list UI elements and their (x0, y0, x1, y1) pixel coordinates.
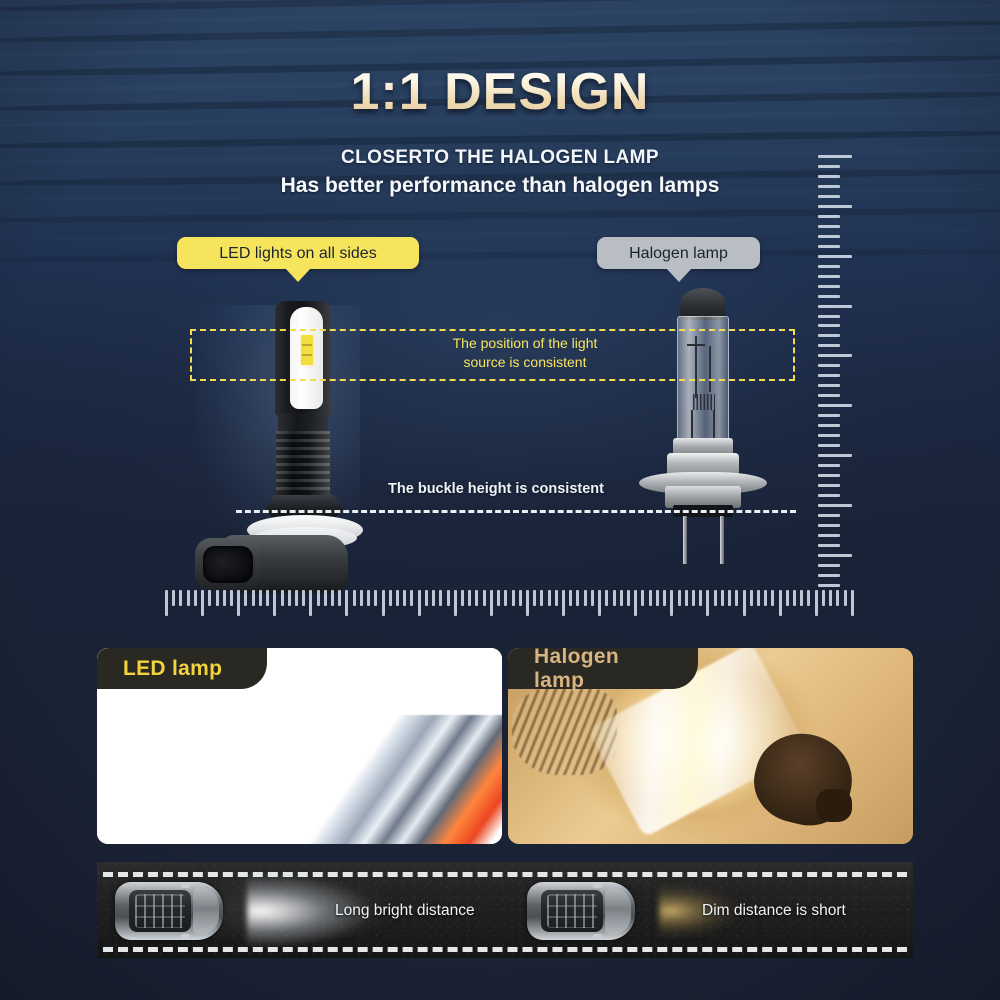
ruler-tick-minor (678, 590, 681, 606)
ruler-tick-minor (818, 584, 840, 587)
ruler-tick-minor (374, 590, 377, 606)
ruler-tick-minor (818, 434, 840, 437)
ruler-tick-minor (699, 590, 702, 606)
ruler-tick-minor (818, 185, 840, 188)
ruler-tick-major (818, 454, 852, 457)
ruler-tick-minor (259, 590, 262, 606)
callout-led-pointer (285, 268, 311, 282)
led-lamp-panel-tab: LED lamp (97, 648, 267, 689)
ruler-tick-minor (288, 590, 291, 606)
ruler-tick-minor (822, 590, 825, 606)
light-source-annotation: The position of the light source is cons… (395, 334, 655, 372)
ruler-tick-major (818, 404, 852, 407)
ruler-tick-minor (818, 364, 840, 367)
ruler-tick-minor (818, 374, 840, 377)
ruler-tick-minor (818, 175, 840, 178)
halogen-lamp-photo-stem (816, 789, 852, 822)
ruler-tick-minor (331, 590, 334, 606)
ruler-tick-major (706, 590, 709, 616)
ruler-tick-minor (389, 590, 392, 606)
ruler-tick-minor (692, 590, 695, 606)
ruler-tick-major (670, 590, 673, 616)
ruler-tick-minor (468, 590, 471, 606)
ruler-tick-minor (818, 534, 840, 537)
ruler-tick-major (309, 590, 312, 616)
halogen-bulb-pin (683, 516, 687, 564)
ruler-tick-minor (818, 514, 840, 517)
halogen-bulb-filament-coil (693, 394, 715, 410)
buckle-height-annotation: The buckle height is consistent (386, 481, 606, 497)
ruler-tick-minor (818, 444, 840, 447)
callout-led-lights: LED lights on all sides (177, 237, 419, 269)
ruler-tick-minor (281, 590, 284, 606)
ruler-tick-minor (818, 474, 840, 477)
ruler-tick-major (818, 354, 852, 357)
halogen-lamp-photo-panel: Halogen lamp (508, 648, 913, 844)
ruler-tick-minor (656, 590, 659, 606)
ruler-tick-minor (216, 590, 219, 606)
ruler-tick-minor (483, 590, 486, 606)
ruler-tick-minor (591, 590, 594, 606)
ruler-tick-minor (818, 265, 840, 268)
led-bulb-neck (278, 413, 328, 433)
callout-led-label: LED lights on all sides (219, 245, 376, 262)
ruler-tick-minor (818, 295, 840, 298)
ruler-tick-major (237, 590, 240, 616)
ruler-tick-minor (800, 590, 803, 606)
ruler-tick-minor (818, 334, 840, 337)
ruler-tick-minor (425, 590, 428, 606)
ruler-tick-minor (230, 590, 233, 606)
ruler-tick-major (490, 590, 493, 616)
ruler-tick-minor (793, 590, 796, 606)
ruler-tick-minor (410, 590, 413, 606)
ruler-tick-minor (187, 590, 190, 606)
ruler-tick-minor (818, 574, 840, 577)
car-interior (135, 894, 185, 928)
ruler-tick-minor (728, 590, 731, 606)
buckle-height-dashed-line (236, 510, 796, 513)
ruler-tick-major (273, 590, 276, 616)
ruler-tick-minor (461, 590, 464, 606)
ruler-tick-minor (353, 590, 356, 606)
ruler-tick-minor (721, 590, 724, 606)
ruler-tick-minor (818, 394, 840, 397)
halogen-bulb-pin (720, 516, 724, 564)
ruler-tick-minor (302, 590, 305, 606)
ruler-tick-minor (605, 590, 608, 606)
ruler-tick-major (454, 590, 457, 616)
ruler-tick-minor (818, 195, 840, 198)
infographic-root: 1:1 DESIGN CLOSERTO THE HALOGEN LAMP Has… (0, 0, 1000, 1000)
ruler-tick-minor (818, 344, 840, 347)
ruler-tick-minor (818, 544, 840, 547)
ruler-tick-minor (627, 590, 630, 606)
ruler-tick-minor (475, 590, 478, 606)
ruler-tick-major (598, 590, 601, 616)
ruler-tick-minor (818, 215, 840, 218)
ruler-tick-minor (447, 590, 450, 606)
ruler-tick-minor (208, 590, 211, 606)
ruler-tick-major (779, 590, 782, 616)
ruler-tick-major (818, 155, 852, 158)
ruler-tick-minor (367, 590, 370, 606)
ruler-tick-minor (504, 590, 507, 606)
ruler-tick-minor (613, 590, 616, 606)
ruler-tick-minor (338, 590, 341, 606)
road-lane-marking-bottom (103, 947, 907, 952)
car-top-view-halogen (527, 882, 635, 940)
led-bulb-heatsink-fins (276, 431, 330, 501)
ruler-tick-minor (818, 225, 840, 228)
ruler-tick-minor (555, 590, 558, 606)
led-lamp-photo-bulb (293, 715, 502, 844)
ruler-tick-minor (818, 324, 840, 327)
ruler-tick-minor (818, 384, 840, 387)
car-interior (547, 894, 597, 928)
ruler-tick-minor (396, 590, 399, 606)
ruler-tick-minor (818, 424, 840, 427)
ruler-tick-minor (818, 414, 840, 417)
car-mirror (181, 883, 190, 888)
halogen-bulb-filament-lead (691, 410, 693, 438)
ruler-tick-major (818, 205, 852, 208)
led-lamp-panel-label: LED lamp (123, 657, 222, 681)
ruler-tick-minor (818, 275, 840, 278)
ruler-tick-major (201, 590, 204, 616)
led-bulb-connector-opening (203, 546, 253, 583)
ruler-tick-minor (714, 590, 717, 606)
ruler-tick-minor (360, 590, 363, 606)
ruler-tick-minor (818, 235, 840, 238)
ruler-tick-major (818, 554, 852, 557)
page-title: 1:1 DESIGN (0, 62, 1000, 122)
ruler-tick-minor (818, 464, 840, 467)
ruler-tick-major (743, 590, 746, 616)
ruler-tick-major (815, 590, 818, 616)
ruler-tick-minor (432, 590, 435, 606)
callout-halogen-lamp: Halogen lamp (597, 237, 760, 269)
ruler-tick-major (818, 305, 852, 308)
ruler-tick-minor (818, 524, 840, 527)
road-comparison-strip: Long bright distance Dim distance is sho… (97, 862, 913, 958)
ruler-tick-minor (252, 590, 255, 606)
ruler-tick-minor (540, 590, 543, 606)
ruler-tick-major (562, 590, 565, 616)
ruler-tick-minor (649, 590, 652, 606)
ruler-tick-major (526, 590, 529, 616)
ruler-tick-minor (533, 590, 536, 606)
ruler-tick-minor (818, 285, 840, 288)
ruler-tick-minor (818, 564, 840, 567)
ruler-tick-minor (576, 590, 579, 606)
ruler-tick-minor (497, 590, 500, 606)
ruler-tick-minor (584, 590, 587, 606)
ruler-tick-minor (512, 590, 515, 606)
ruler-tick-major (851, 590, 854, 616)
ruler-tick-minor (844, 590, 847, 606)
ruler-tick-minor (244, 590, 247, 606)
ruler-tick-major (818, 255, 852, 258)
ruler-tick-minor (172, 590, 175, 606)
ruler-tick-minor (757, 590, 760, 606)
light-source-annotation-line-2: source is consistent (395, 353, 655, 372)
ruler-tick-major (818, 504, 852, 507)
car-top-view-led (115, 882, 223, 940)
callout-halogen-label: Halogen lamp (629, 245, 728, 262)
ruler-tick-minor (266, 590, 269, 606)
ruler-tick-major (345, 590, 348, 616)
led-lamp-photo-panel: LED lamp (97, 648, 502, 844)
car-mirror (181, 934, 190, 939)
ruler-tick-minor (295, 590, 298, 606)
ruler-tick-minor (403, 590, 406, 606)
ruler-tick-minor (807, 590, 810, 606)
ruler-tick-minor (519, 590, 522, 606)
light-source-annotation-line-1: The position of the light (395, 334, 655, 353)
road-label-led: Long bright distance (335, 902, 475, 920)
ruler-tick-minor (771, 590, 774, 606)
ruler-tick-minor (818, 484, 840, 487)
ruler-tick-minor (818, 494, 840, 497)
ruler-tick-major (634, 590, 637, 616)
ruler-tick-minor (641, 590, 644, 606)
ruler-tick-minor (324, 590, 327, 606)
road-label-halogen: Dim distance is short (702, 902, 846, 920)
ruler-tick-minor (439, 590, 442, 606)
ruler-tick-minor (764, 590, 767, 606)
ruler-tick-minor (317, 590, 320, 606)
ruler-tick-minor (663, 590, 666, 606)
horizontal-ruler (165, 590, 855, 616)
halogen-lamp-panel-label: Halogen lamp (534, 648, 664, 693)
ruler-tick-minor (685, 590, 688, 606)
ruler-tick-minor (620, 590, 623, 606)
ruler-tick-minor (818, 165, 840, 168)
ruler-tick-minor (818, 245, 840, 248)
car-mirror (593, 883, 602, 888)
car-mirror (593, 934, 602, 939)
ruler-tick-minor (750, 590, 753, 606)
ruler-tick-minor (818, 315, 840, 318)
ruler-tick-minor (179, 590, 182, 606)
ruler-tick-minor (569, 590, 572, 606)
callout-halogen-pointer (666, 268, 692, 282)
road-lane-marking-top (103, 872, 907, 877)
ruler-tick-major (382, 590, 385, 616)
ruler-tick-minor (836, 590, 839, 606)
halogen-bulb-filament-lead (713, 410, 715, 438)
vertical-ruler (818, 155, 864, 587)
ruler-tick-major (165, 590, 168, 616)
ruler-tick-minor (735, 590, 738, 606)
ruler-tick-minor (548, 590, 551, 606)
ruler-tick-minor (786, 590, 789, 606)
ruler-tick-minor (223, 590, 226, 606)
ruler-tick-major (418, 590, 421, 616)
ruler-tick-minor (194, 590, 197, 606)
ruler-tick-minor (829, 590, 832, 606)
halogen-lamp-panel-tab: Halogen lamp (508, 648, 698, 689)
